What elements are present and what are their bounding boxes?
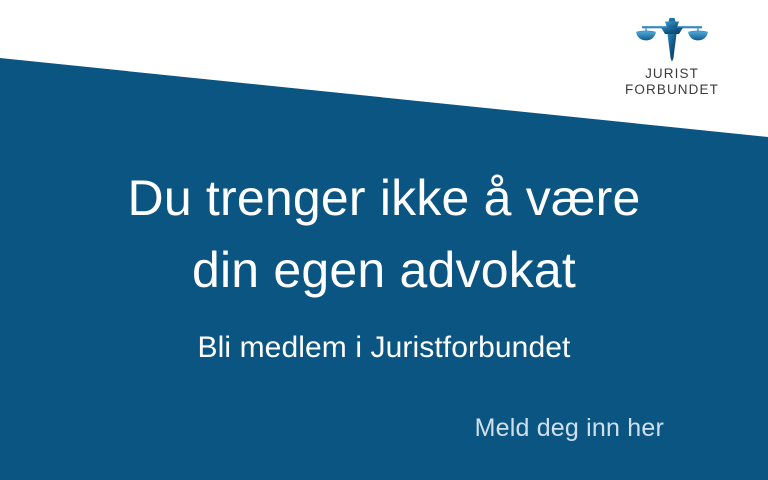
scales-of-justice-icon xyxy=(632,16,712,62)
logo-wordmark-line-2: FORBUNDET xyxy=(625,82,719,98)
subheading: Bli medlem i Juristforbundet xyxy=(0,328,768,367)
cta-link-meld-deg-inn-her[interactable]: Meld deg inn her xyxy=(475,412,664,445)
logo-wordmark: JURIST FORBUNDET xyxy=(625,66,719,98)
logo-wordmark-line-1: JURIST xyxy=(625,66,719,82)
headline-line-2: din egen advokat xyxy=(0,234,768,306)
advertisement-banner[interactable]: JURIST FORBUNDET Du trenger ikke å være … xyxy=(0,0,768,480)
headline-line-1: Du trenger ikke å være xyxy=(0,162,768,234)
juristforbundet-logo[interactable]: JURIST FORBUNDET xyxy=(618,16,726,98)
headline: Du trenger ikke å være din egen advokat xyxy=(0,162,768,306)
